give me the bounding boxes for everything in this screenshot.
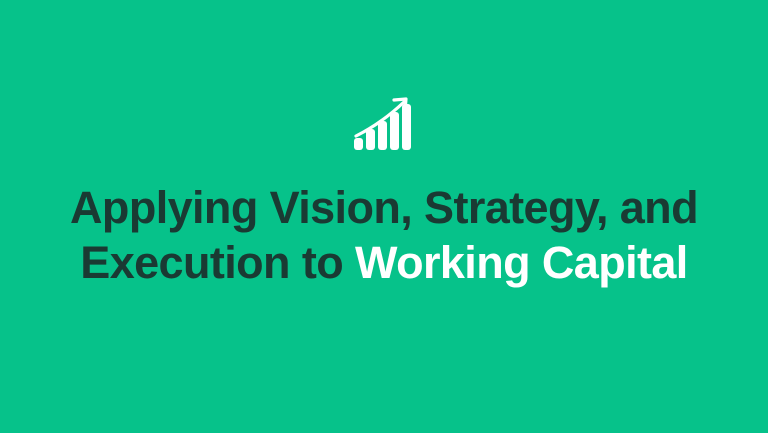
title-line-1: Applying Vision, Strategy, and xyxy=(40,180,728,235)
title-card: Applying Vision, Strategy, and Execution… xyxy=(0,0,768,433)
page-title: Applying Vision, Strategy, and Execution… xyxy=(0,180,768,290)
growth-bar-chart-arrow-icon xyxy=(354,96,414,150)
icon-container xyxy=(0,96,768,150)
title-line-2: Execution to Working Capital xyxy=(40,235,728,290)
title-accent-text: Working Capital xyxy=(355,237,688,288)
title-line-2-prefix: Execution to xyxy=(80,237,355,288)
